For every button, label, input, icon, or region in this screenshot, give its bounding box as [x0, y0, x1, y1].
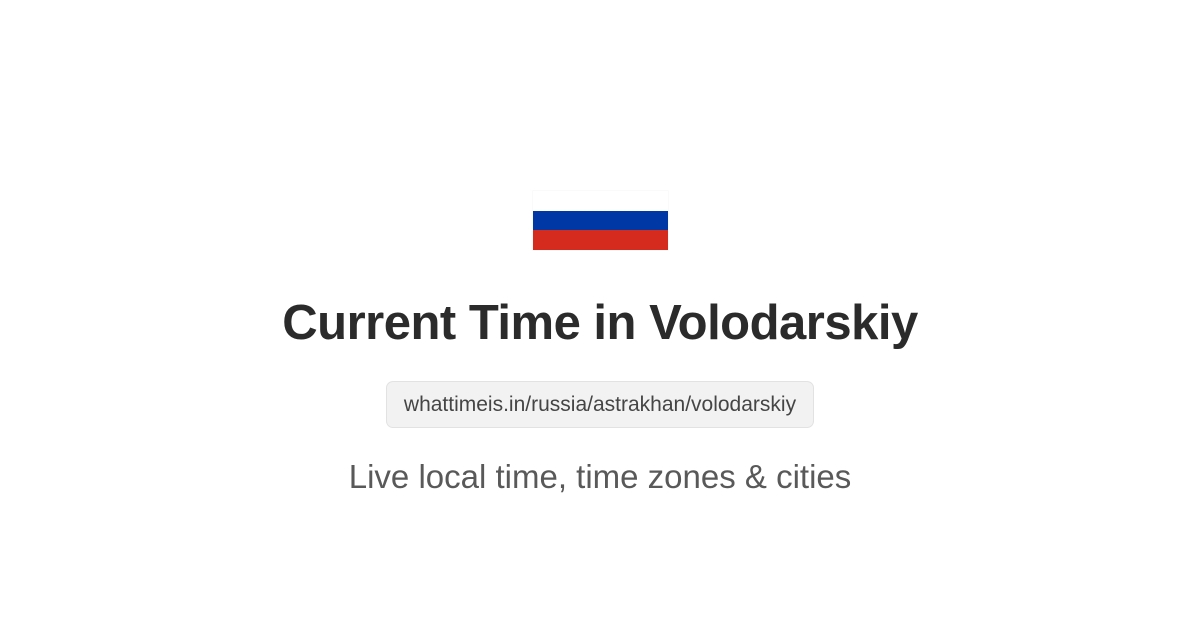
url-chip[interactable]: whattimeis.in/russia/astrakhan/volodarsk…	[386, 381, 814, 428]
page-subtitle: Live local time, time zones & cities	[349, 457, 852, 497]
page-title: Current Time in Volodarskiy	[282, 296, 917, 351]
russia-flag-icon	[533, 191, 668, 250]
flag-stripe-blue	[533, 211, 668, 231]
flag-stripe-red	[533, 230, 668, 250]
flag-stripe-white	[533, 191, 668, 211]
preview-card: Current Time in Volodarskiy whattimeis.i…	[0, 0, 1200, 630]
